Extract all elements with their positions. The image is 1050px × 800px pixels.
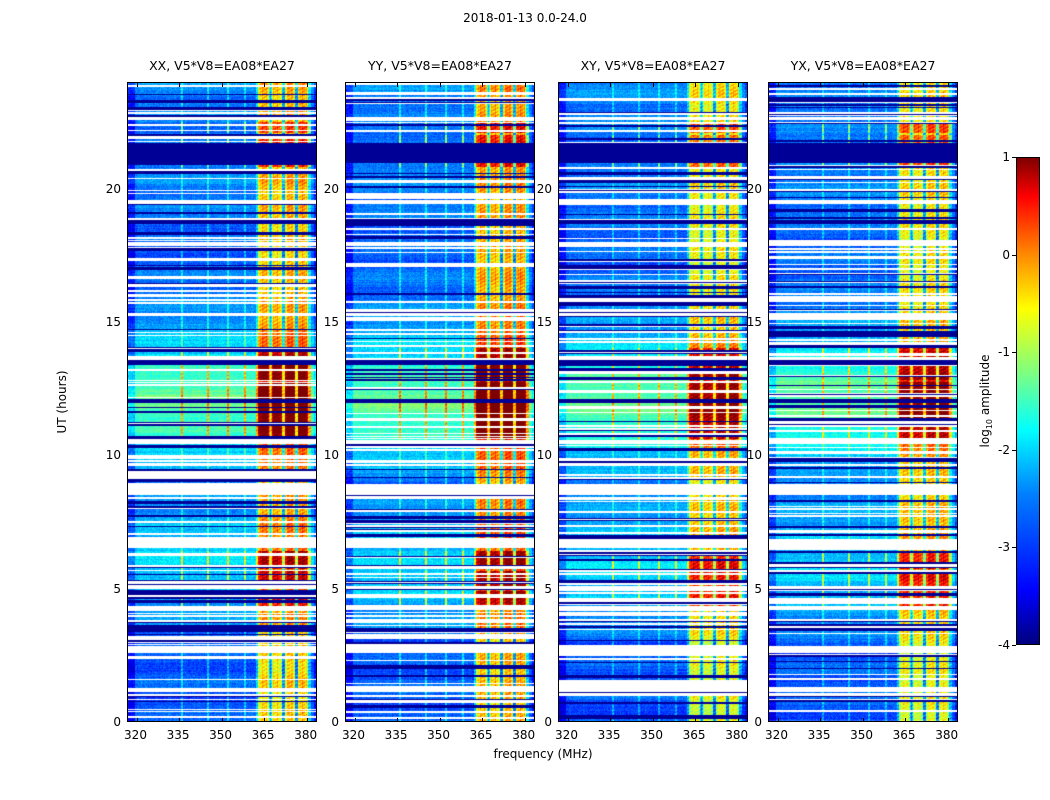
axes-yx <box>768 82 958 722</box>
axes-yy <box>345 82 535 722</box>
x-tick <box>440 718 441 722</box>
y-tick-right <box>957 456 958 457</box>
heatmap-image-xy <box>559 83 748 722</box>
heatmap-image-xx <box>128 83 317 722</box>
x-tick <box>778 718 779 722</box>
x-tick-label: 380 <box>725 728 748 742</box>
x-tick-label: 380 <box>294 728 317 742</box>
x-tick-top <box>264 83 265 87</box>
y-tick-label: 15 <box>97 315 121 329</box>
x-tick <box>355 718 356 722</box>
x-axis-label: frequency (MHz) <box>493 747 592 761</box>
y-tick-right <box>957 190 958 191</box>
y-tick <box>558 190 559 191</box>
y-tick <box>127 323 128 324</box>
x-tick-top <box>307 83 308 87</box>
colorbar-tick-label: 1 <box>1002 150 1010 164</box>
y-tick-label: 20 <box>97 182 121 196</box>
x-tick <box>137 718 138 722</box>
panel-title-xy: XY, V5*V8=EA08*EA27 <box>558 58 748 73</box>
colorbar-tick <box>1012 352 1016 353</box>
y-tick-label: 5 <box>528 582 552 596</box>
x-tick-label: 320 <box>765 728 788 742</box>
x-tick-label: 350 <box>640 728 663 742</box>
x-tick-top <box>863 83 864 87</box>
y-tick-label: 0 <box>315 715 339 729</box>
x-tick-label: 365 <box>470 728 493 742</box>
x-tick-label: 380 <box>935 728 958 742</box>
x-tick-label: 365 <box>252 728 275 742</box>
x-tick-top <box>568 83 569 87</box>
x-tick <box>610 718 611 722</box>
y-tick <box>345 190 346 191</box>
y-tick <box>127 190 128 191</box>
x-tick <box>525 718 526 722</box>
axes-xy <box>558 82 748 722</box>
x-tick <box>653 718 654 722</box>
x-tick-label: 335 <box>808 728 831 742</box>
colorbar-tick <box>1012 157 1016 158</box>
x-tick-label: 365 <box>893 728 916 742</box>
colorbar-label-sub: 10 <box>985 419 994 429</box>
x-tick-top <box>738 83 739 87</box>
x-tick <box>820 718 821 722</box>
y-tick <box>345 456 346 457</box>
y-tick-label: 0 <box>528 715 552 729</box>
x-tick-top <box>440 83 441 87</box>
y-tick-right <box>957 323 958 324</box>
x-tick <box>264 718 265 722</box>
colorbar-tick-label: -4 <box>998 638 1010 652</box>
y-tick-label: 0 <box>97 715 121 729</box>
y-tick-label: 20 <box>528 182 552 196</box>
y-tick-label: 10 <box>528 448 552 462</box>
y-tick <box>768 590 769 591</box>
y-tick-label: 10 <box>97 448 121 462</box>
y-tick <box>345 323 346 324</box>
y-tick-label: 5 <box>738 582 762 596</box>
y-tick <box>345 590 346 591</box>
y-tick <box>768 456 769 457</box>
axes-xx <box>127 82 317 722</box>
x-tick <box>179 718 180 722</box>
y-tick-label: 5 <box>315 582 339 596</box>
colorbar-gradient <box>1016 157 1040 645</box>
y-tick-label: 20 <box>315 182 339 196</box>
heatmap-image-yy <box>346 83 535 722</box>
y-tick-right <box>957 590 958 591</box>
x-tick-label: 350 <box>427 728 450 742</box>
x-tick <box>863 718 864 722</box>
x-tick-top <box>355 83 356 87</box>
x-tick <box>222 718 223 722</box>
x-tick-label: 335 <box>167 728 190 742</box>
heatmap-image-yx <box>769 83 958 722</box>
x-tick-label: 380 <box>512 728 535 742</box>
y-tick <box>558 456 559 457</box>
colorbar-tick <box>1012 547 1016 548</box>
x-tick-label: 350 <box>850 728 873 742</box>
colorbar-label: log10 amplitude <box>978 355 994 448</box>
x-tick-label: 365 <box>683 728 706 742</box>
y-tick <box>127 456 128 457</box>
x-tick <box>905 718 906 722</box>
x-tick-top <box>695 83 696 87</box>
x-tick-top <box>525 83 526 87</box>
x-tick-label: 320 <box>555 728 578 742</box>
panel-title-xx: XX, V5*V8=EA08*EA27 <box>127 58 317 73</box>
y-tick-label: 15 <box>738 315 762 329</box>
x-tick-top <box>610 83 611 87</box>
y-tick-label: 10 <box>315 448 339 462</box>
panel-yy: YY, V5*V8=EA08*EA27 <box>345 82 535 722</box>
y-tick-label: 20 <box>738 182 762 196</box>
x-tick-top <box>397 83 398 87</box>
x-tick <box>948 718 949 722</box>
x-tick <box>695 718 696 722</box>
x-tick-top <box>653 83 654 87</box>
y-tick <box>558 323 559 324</box>
x-tick <box>397 718 398 722</box>
y-tick <box>768 323 769 324</box>
colorbar-tick-label: 0 <box>1002 248 1010 262</box>
x-tick-top <box>137 83 138 87</box>
figure-suptitle: 2018-01-13 0.0-24.0 <box>0 11 1050 25</box>
y-tick <box>127 590 128 591</box>
colorbar: 10-1-2-3-4 <box>1016 157 1040 645</box>
y-tick <box>768 190 769 191</box>
y-tick-label: 5 <box>97 582 121 596</box>
x-tick <box>482 718 483 722</box>
panel-title-yy: YY, V5*V8=EA08*EA27 <box>345 58 535 73</box>
x-tick-top <box>820 83 821 87</box>
panel-xx: XX, V5*V8=EA08*EA27 <box>127 82 317 722</box>
y-tick-label: 15 <box>315 315 339 329</box>
figure-canvas: 2018-01-13 0.0-24.0 XX, V5*V8=EA08*EA27 … <box>0 0 1050 800</box>
colorbar-tick-label: -3 <box>998 540 1010 554</box>
panel-xy: XY, V5*V8=EA08*EA27 <box>558 82 748 722</box>
y-axis-label: UT (hours) <box>55 370 69 433</box>
colorbar-label-main: log <box>978 429 992 447</box>
x-tick <box>568 718 569 722</box>
x-tick-label: 320 <box>342 728 365 742</box>
x-tick <box>307 718 308 722</box>
x-tick-label: 335 <box>385 728 408 742</box>
y-tick-label: 10 <box>738 448 762 462</box>
x-tick-top <box>179 83 180 87</box>
x-tick-label: 320 <box>124 728 147 742</box>
colorbar-tick <box>1012 255 1016 256</box>
panel-title-yx: YX, V5*V8=EA08*EA27 <box>768 58 958 73</box>
colorbar-tick-label: -1 <box>998 345 1010 359</box>
colorbar-tick <box>1012 645 1016 646</box>
x-tick-top <box>905 83 906 87</box>
colorbar-tick-label: -2 <box>998 443 1010 457</box>
colorbar-tick <box>1012 450 1016 451</box>
colorbar-label-tail: amplitude <box>978 355 992 419</box>
x-tick-top <box>778 83 779 87</box>
x-tick-top <box>482 83 483 87</box>
y-tick-label: 0 <box>738 715 762 729</box>
x-tick-label: 335 <box>598 728 621 742</box>
y-tick-label: 15 <box>528 315 552 329</box>
panel-yx: YX, V5*V8=EA08*EA27 <box>768 82 958 722</box>
x-tick-label: 350 <box>209 728 232 742</box>
x-tick-top <box>222 83 223 87</box>
x-tick-top <box>948 83 949 87</box>
y-tick <box>558 590 559 591</box>
